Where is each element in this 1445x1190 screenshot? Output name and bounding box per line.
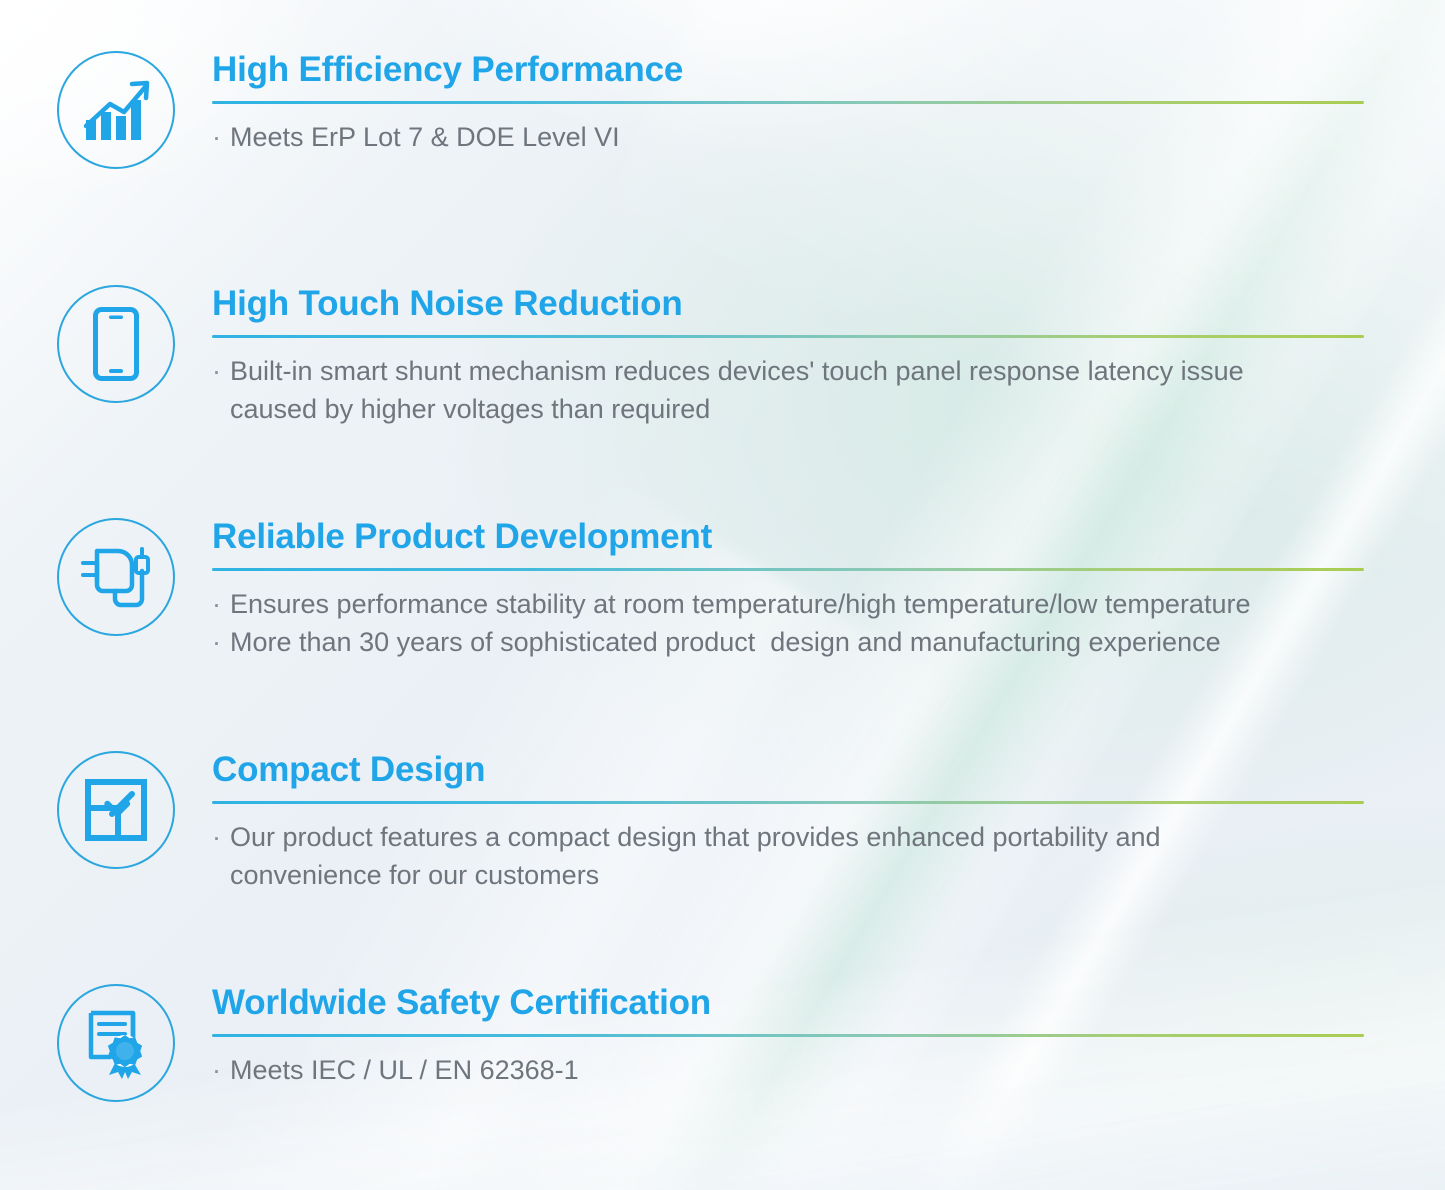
feature-title: Worldwide Safety Certification bbox=[212, 985, 1364, 1022]
feature-title: High Efficiency Performance bbox=[212, 52, 1364, 89]
feature-item-compact-design: Compact Design · Our product features a … bbox=[52, 746, 1364, 894]
feature-divider bbox=[212, 101, 1364, 104]
feature-divider bbox=[212, 801, 1364, 804]
feature-title: High Touch Noise Reduction bbox=[212, 286, 1364, 323]
bar-chart-growth-icon bbox=[57, 51, 175, 169]
feature-item-high-touch-noise-reduction: High Touch Noise Reduction · Built-in sm… bbox=[52, 280, 1364, 428]
bullet-text: Built-in smart shunt mechanism reduces d… bbox=[230, 352, 1364, 429]
bullet-marker: · bbox=[212, 818, 221, 895]
feature-item-high-efficiency-performance: High Efficiency Performance · Meets ErP … bbox=[52, 46, 1364, 174]
feature-divider bbox=[212, 568, 1364, 571]
feature-title: Reliable Product Development bbox=[212, 519, 1364, 556]
feature-bullets: · Ensures performance stability at room … bbox=[212, 585, 1364, 662]
feature-body: Reliable Product Development · Ensures p… bbox=[212, 513, 1364, 661]
bullet-text: Meets ErP Lot 7 & DOE Level VI bbox=[230, 118, 1364, 156]
power-adapter-icon bbox=[57, 518, 175, 636]
feature-divider bbox=[212, 1034, 1364, 1037]
feature-bullets: · Our product features a compact design … bbox=[212, 818, 1364, 895]
feature-item-reliable-product-development: Reliable Product Development · Ensures p… bbox=[52, 513, 1364, 661]
bullet-item: · Meets ErP Lot 7 & DOE Level VI bbox=[212, 118, 1364, 156]
feature-bullets: · Meets ErP Lot 7 & DOE Level VI bbox=[212, 118, 1364, 156]
feature-item-worldwide-safety-certification: Worldwide Safety Certification · Meets I… bbox=[52, 979, 1364, 1107]
bullet-item: · Built-in smart shunt mechanism reduces… bbox=[212, 352, 1364, 429]
bullet-marker: · bbox=[212, 118, 221, 156]
bullet-marker: · bbox=[212, 623, 221, 661]
bullet-marker: · bbox=[212, 585, 221, 623]
bullet-marker: · bbox=[212, 352, 221, 429]
feature-icon-wrap bbox=[52, 46, 180, 174]
certificate-award-icon bbox=[57, 984, 175, 1102]
feature-divider bbox=[212, 335, 1364, 338]
bullet-text: More than 30 years of sophisticated prod… bbox=[230, 623, 1364, 661]
feature-highlights-page: High Efficiency Performance · Meets ErP … bbox=[0, 0, 1445, 1190]
compact-resize-icon bbox=[57, 751, 175, 869]
feature-body: High Efficiency Performance · Meets ErP … bbox=[212, 46, 1364, 156]
feature-icon-wrap bbox=[52, 746, 180, 874]
feature-body: Worldwide Safety Certification · Meets I… bbox=[212, 979, 1364, 1089]
bullet-item: · Meets IEC / UL / EN 62368-1 bbox=[212, 1051, 1364, 1089]
bullet-text: Our product features a compact design th… bbox=[230, 818, 1364, 895]
feature-icon-wrap bbox=[52, 513, 180, 641]
bullet-text: Meets IEC / UL / EN 62368-1 bbox=[230, 1051, 1364, 1089]
bullet-text: Ensures performance stability at room te… bbox=[230, 585, 1364, 623]
bullet-marker: · bbox=[212, 1051, 221, 1089]
feature-body: High Touch Noise Reduction · Built-in sm… bbox=[212, 280, 1364, 428]
feature-icon-wrap bbox=[52, 979, 180, 1107]
feature-icon-wrap bbox=[52, 280, 180, 408]
smartphone-icon bbox=[57, 285, 175, 403]
feature-list: High Efficiency Performance · Meets ErP … bbox=[0, 0, 1445, 1190]
bullet-item: · Ensures performance stability at room … bbox=[212, 585, 1364, 623]
feature-body: Compact Design · Our product features a … bbox=[212, 746, 1364, 894]
bullet-item: · More than 30 years of sophisticated pr… bbox=[212, 623, 1364, 661]
feature-bullets: · Built-in smart shunt mechanism reduces… bbox=[212, 352, 1364, 429]
feature-bullets: · Meets IEC / UL / EN 62368-1 bbox=[212, 1051, 1364, 1089]
bullet-item: · Our product features a compact design … bbox=[212, 818, 1364, 895]
feature-title: Compact Design bbox=[212, 752, 1364, 789]
